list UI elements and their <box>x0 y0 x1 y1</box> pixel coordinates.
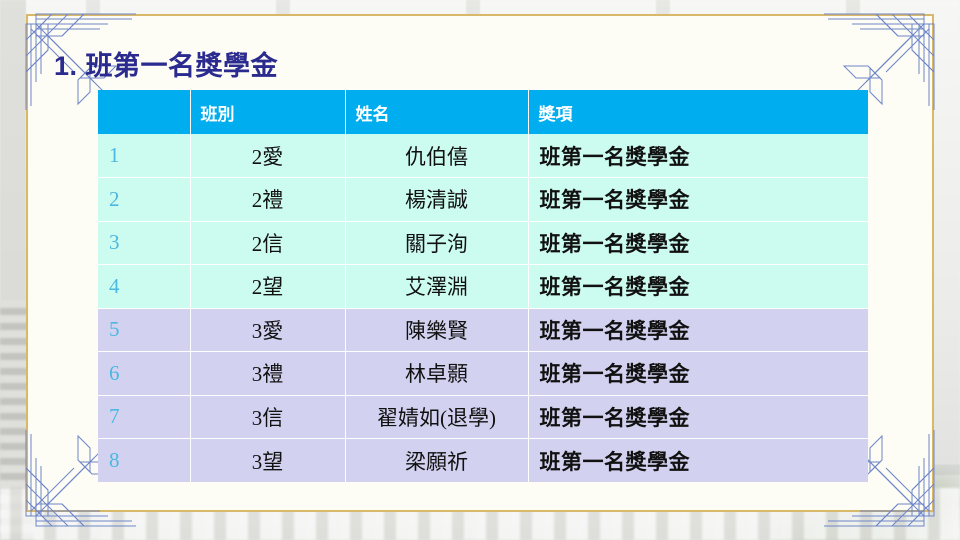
cell-class: 2禮 <box>190 178 345 222</box>
table-row: 8 3望 梁願祈 班第一名獎學金 <box>98 439 868 483</box>
cell-class: 2愛 <box>190 134 345 178</box>
cell-name: 林卓顥 <box>345 352 528 396</box>
cell-index: 1 <box>98 134 190 178</box>
cell-class: 2望 <box>190 265 345 309</box>
cell-class: 3禮 <box>190 352 345 396</box>
cell-award: 班第一名獎學金 <box>528 308 868 352</box>
table-header: 班別 姓名 獎項 <box>98 90 868 134</box>
cell-award: 班第一名獎學金 <box>528 265 868 309</box>
cell-award: 班第一名獎學金 <box>528 439 868 483</box>
table-row: 2 2禮 楊清誠 班第一名獎學金 <box>98 178 868 222</box>
table-row: 6 3禮 林卓顥 班第一名獎學金 <box>98 352 868 396</box>
cell-name: 關子洵 <box>345 221 528 265</box>
cell-index: 6 <box>98 352 190 396</box>
cell-index: 2 <box>98 178 190 222</box>
column-header-index <box>98 90 190 134</box>
table-row: 7 3信 翟婧如(退學) 班第一名獎學金 <box>98 395 868 439</box>
table-row: 5 3愛 陳樂賢 班第一名獎學金 <box>98 308 868 352</box>
cell-name: 翟婧如(退學) <box>345 395 528 439</box>
cell-class: 2信 <box>190 221 345 265</box>
page-title: 1. 班第一名獎學金 <box>54 44 278 83</box>
table-row: 4 2望 艾澤淵 班第一名獎學金 <box>98 265 868 309</box>
table-row: 3 2信 關子洵 班第一名獎學金 <box>98 221 868 265</box>
cell-award: 班第一名獎學金 <box>528 221 868 265</box>
column-header-class: 班別 <box>190 90 345 134</box>
cell-class: 3信 <box>190 395 345 439</box>
cell-name: 艾澤淵 <box>345 265 528 309</box>
table-body: 1 2愛 仇伯僖 班第一名獎學金 2 2禮 楊清誠 班第一名獎學金 3 2信 關… <box>98 134 868 482</box>
table-row: 1 2愛 仇伯僖 班第一名獎學金 <box>98 134 868 178</box>
cell-index: 8 <box>98 439 190 483</box>
cell-award: 班第一名獎學金 <box>528 134 868 178</box>
cell-index: 3 <box>98 221 190 265</box>
column-header-name: 姓名 <box>345 90 528 134</box>
cell-class: 3望 <box>190 439 345 483</box>
cell-award: 班第一名獎學金 <box>528 395 868 439</box>
table-header-row: 班別 姓名 獎項 <box>98 90 868 134</box>
cell-index: 7 <box>98 395 190 439</box>
column-header-award: 獎項 <box>528 90 868 134</box>
cell-class: 3愛 <box>190 308 345 352</box>
cell-name: 梁願祈 <box>345 439 528 483</box>
cell-index: 5 <box>98 308 190 352</box>
cell-award: 班第一名獎學金 <box>528 178 868 222</box>
cell-name: 仇伯僖 <box>345 134 528 178</box>
slide: 1. 班第一名獎學金 班別 姓名 獎項 1 2愛 仇伯僖 班第一名獎學金 <box>0 0 960 540</box>
award-table-container: 班別 姓名 獎項 1 2愛 仇伯僖 班第一名獎學金 2 2禮 楊清誠 班第一名獎… <box>98 90 868 482</box>
cell-name: 楊清誠 <box>345 178 528 222</box>
cell-index: 4 <box>98 265 190 309</box>
cell-award: 班第一名獎學金 <box>528 352 868 396</box>
award-table: 班別 姓名 獎項 1 2愛 仇伯僖 班第一名獎學金 2 2禮 楊清誠 班第一名獎… <box>98 90 868 482</box>
cell-name: 陳樂賢 <box>345 308 528 352</box>
